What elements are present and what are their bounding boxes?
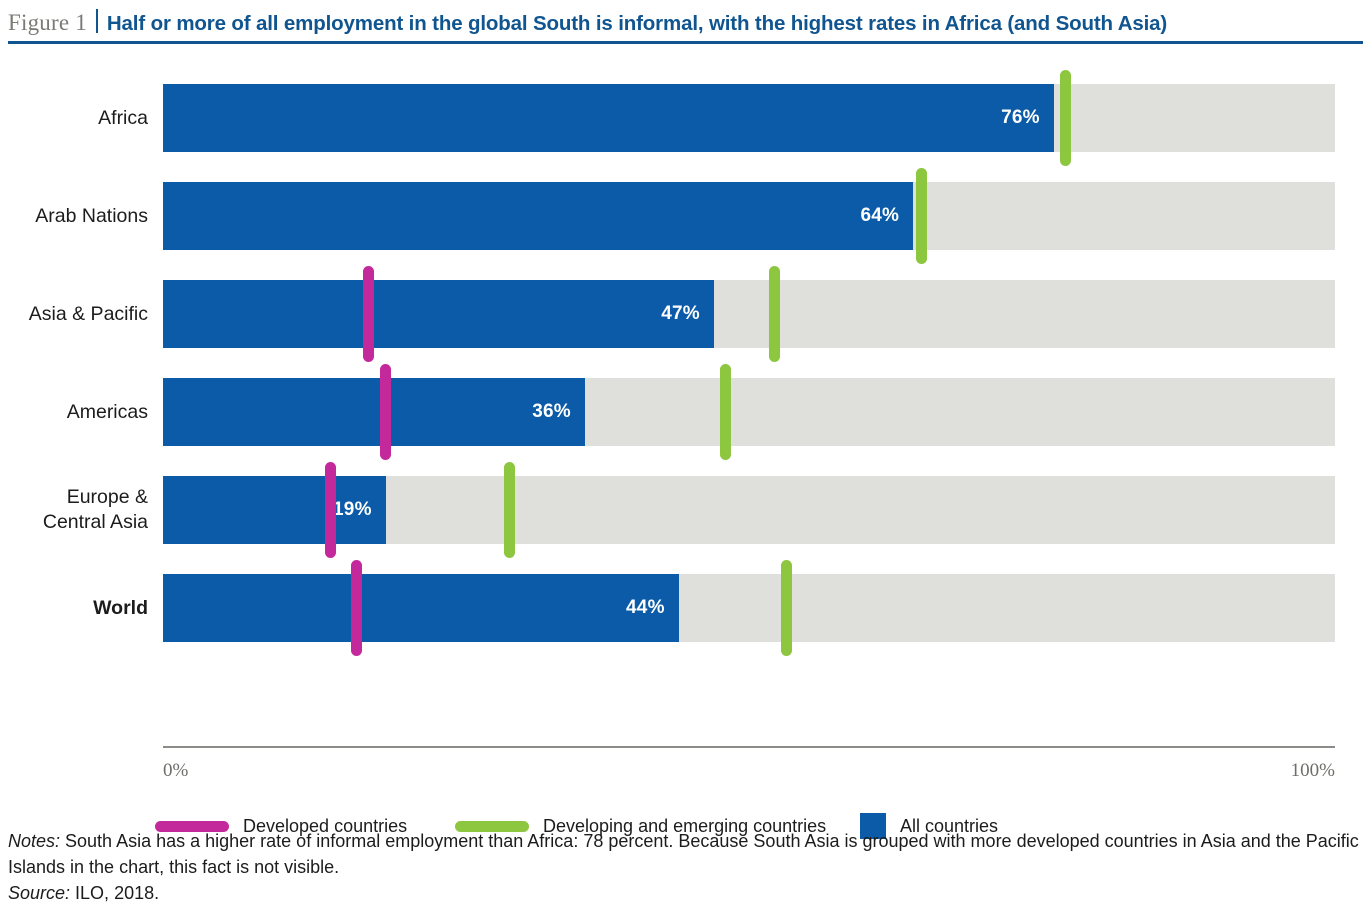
figure-page: Figure 1 Half or more of all employment … bbox=[0, 0, 1371, 907]
marker-developing-countries[interactable] bbox=[916, 168, 927, 264]
marker-developing-countries[interactable] bbox=[769, 266, 780, 362]
source-lead: Source: bbox=[8, 883, 70, 903]
bar-value-label: 44% bbox=[626, 597, 665, 619]
bar-track: 19% bbox=[163, 476, 1335, 544]
bar-chart: Africa76%Arab Nations64%Asia & Pacific47… bbox=[0, 58, 1371, 698]
notes-lead: Notes: bbox=[8, 831, 60, 851]
bar-track: 36% bbox=[163, 378, 1335, 446]
source-line: Source: ILO, 2018. bbox=[8, 880, 1363, 906]
bar-track: 44% bbox=[163, 574, 1335, 642]
row-label-world: World bbox=[0, 596, 148, 621]
x-axis-tick-min: 0% bbox=[163, 760, 188, 782]
bar-value-label: 19% bbox=[333, 499, 372, 521]
chart-row: Europe &Central Asia19% bbox=[0, 476, 1371, 544]
figure-header: Figure 1 Half or more of all employment … bbox=[0, 0, 1371, 46]
source-text: ILO, 2018. bbox=[70, 883, 159, 903]
chart-row: Arab Nations64% bbox=[0, 182, 1371, 250]
bar-all-countries[interactable]: 64% bbox=[163, 182, 913, 250]
bar-track: 47% bbox=[163, 280, 1335, 348]
figure-number: Figure 1 bbox=[8, 10, 87, 36]
marker-developing-countries[interactable] bbox=[781, 560, 792, 656]
bar-all-countries[interactable]: 47% bbox=[163, 280, 714, 348]
row-label-europe-central-asia: Europe &Central Asia bbox=[0, 485, 148, 535]
bar-track: 76% bbox=[163, 84, 1335, 152]
chart-row: Asia & Pacific47% bbox=[0, 280, 1371, 348]
bar-value-label: 76% bbox=[1001, 107, 1040, 129]
bar-value-label: 36% bbox=[532, 401, 571, 423]
figure-notes: Notes: South Asia has a higher rate of i… bbox=[8, 828, 1363, 906]
marker-developing-countries[interactable] bbox=[720, 364, 731, 460]
marker-developing-countries[interactable] bbox=[504, 462, 515, 558]
chart-row: Americas36% bbox=[0, 378, 1371, 446]
chart-row: World44% bbox=[0, 574, 1371, 642]
bar-value-label: 64% bbox=[860, 205, 899, 227]
row-label-arab-nations: Arab Nations bbox=[0, 204, 148, 229]
row-label-americas: Americas bbox=[0, 400, 148, 425]
row-label-asia-pacific: Asia & Pacific bbox=[0, 302, 148, 327]
bar-all-countries[interactable]: 76% bbox=[163, 84, 1054, 152]
marker-developing-countries[interactable] bbox=[1060, 70, 1071, 166]
x-axis-tick-max: 100% bbox=[1291, 760, 1335, 782]
bar-all-countries[interactable]: 44% bbox=[163, 574, 679, 642]
marker-developed-countries[interactable] bbox=[363, 266, 374, 362]
figure-divider bbox=[96, 9, 98, 33]
bar-value-label: 47% bbox=[661, 303, 700, 325]
header-rule bbox=[8, 41, 1363, 44]
figure-title: Half or more of all employment in the gl… bbox=[107, 12, 1167, 36]
chart-row: Africa76% bbox=[0, 84, 1371, 152]
marker-developed-countries[interactable] bbox=[325, 462, 336, 558]
notes-text: South Asia has a higher rate of informal… bbox=[8, 831, 1359, 877]
bar-all-countries[interactable]: 36% bbox=[163, 378, 585, 446]
bar-all-countries[interactable]: 19% bbox=[163, 476, 386, 544]
notes-line: Notes: South Asia has a higher rate of i… bbox=[8, 828, 1363, 880]
marker-developed-countries[interactable] bbox=[380, 364, 391, 460]
bar-track: 64% bbox=[163, 182, 1335, 250]
x-axis-line bbox=[163, 746, 1335, 748]
row-label-africa: Africa bbox=[0, 106, 148, 131]
marker-developed-countries[interactable] bbox=[351, 560, 362, 656]
